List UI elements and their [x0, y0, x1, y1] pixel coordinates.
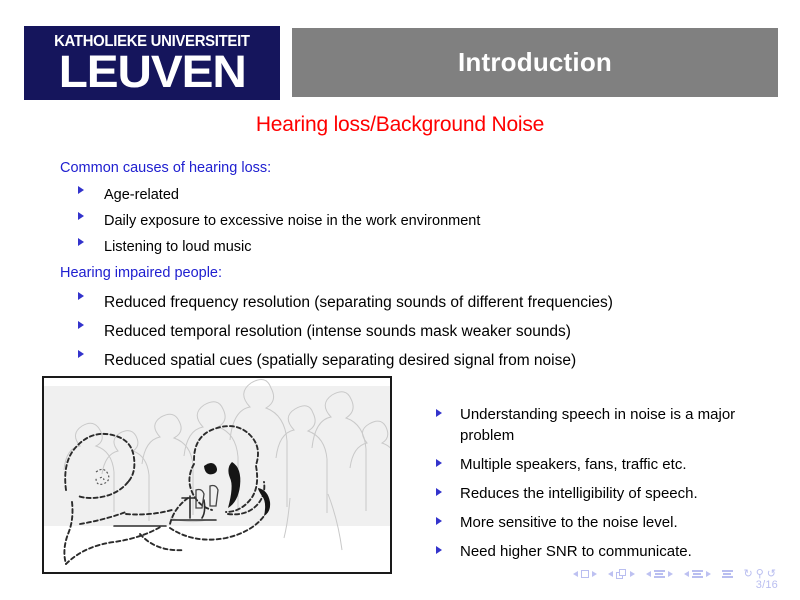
nav-group-presentation: [722, 570, 733, 578]
slide-header: KATHOLIEKE UNIVERSITEIT LEUVEN Introduct…: [0, 0, 800, 110]
bullet-triangle-icon: [78, 350, 84, 358]
previous-subsection-icon[interactable]: [646, 571, 651, 577]
bullet-triangle-icon: [78, 212, 84, 220]
list-item: Reduced frequency resolution (separating…: [78, 288, 613, 317]
list-item: Age-related: [78, 182, 480, 208]
back-icon[interactable]: ↻: [744, 569, 753, 580]
bullet-triangle-icon: [436, 488, 442, 496]
list-item-label: Listening to loud music: [104, 239, 252, 255]
slide-icon[interactable]: [581, 570, 589, 578]
ku-leuven-logo: KATHOLIEKE UNIVERSITEIT LEUVEN: [24, 26, 280, 100]
bullet-triangle-icon: [78, 321, 84, 329]
list-item: Multiple speakers, fans, traffic etc.: [436, 454, 756, 475]
bullet-list-speech-in-noise: Understanding speech in noise is a major…: [436, 404, 756, 570]
section-heading-common-causes: Common causes of hearing loss:: [60, 160, 271, 176]
frame-icon[interactable]: [616, 569, 627, 579]
section-title-text: Introduction: [458, 47, 612, 78]
nav-group-section: [684, 570, 711, 578]
list-item-label: Multiple speakers, fans, traffic etc.: [460, 456, 687, 473]
page-number: 3/16: [756, 579, 778, 591]
list-item: Reduced temporal resolution (intense sou…: [78, 317, 613, 346]
previous-frame-icon[interactable]: [608, 571, 613, 577]
previous-slide-icon[interactable]: [573, 571, 578, 577]
bullet-triangle-icon: [78, 186, 84, 194]
next-subsection-icon[interactable]: [668, 571, 673, 577]
list-item: Listening to loud music: [78, 234, 480, 260]
list-item: Daily exposure to excessive noise in the…: [78, 208, 480, 234]
list-item: Understanding speech in noise is a major…: [436, 404, 756, 446]
bullet-triangle-icon: [78, 238, 84, 246]
next-slide-icon[interactable]: [592, 571, 597, 577]
forward-icon[interactable]: ↺: [767, 569, 776, 580]
next-frame-icon[interactable]: [630, 571, 635, 577]
section-title-bar: Introduction: [292, 28, 778, 97]
subsection-icon[interactable]: [654, 570, 665, 578]
list-item-label: Need higher SNR to communicate.: [460, 543, 692, 560]
previous-section-icon[interactable]: [684, 571, 689, 577]
section-icon[interactable]: [692, 570, 703, 578]
nav-group-frame: [608, 569, 635, 579]
nav-group-subsection: [646, 570, 673, 578]
list-item-label: More sensitive to the noise level.: [460, 514, 678, 531]
list-item-label: Reduces the intelligibility of speech.: [460, 485, 698, 502]
bullet-list-common-causes: Age-related Daily exposure to excessive …: [78, 182, 480, 260]
list-item: Reduced spatial cues (spatially separati…: [78, 346, 613, 375]
list-item-label: Daily exposure to excessive noise in the…: [104, 213, 480, 229]
nav-group-slide: [573, 570, 597, 578]
beamer-navigation-bar[interactable]: ↻ ⚲ ↺: [0, 566, 800, 582]
list-item-label: Understanding speech in noise is a major…: [460, 406, 735, 444]
list-item-label: Reduced temporal resolution (intense sou…: [104, 323, 571, 340]
list-item: Reduces the intelligibility of speech.: [436, 483, 756, 504]
list-item-label: Reduced spatial cues (spatially separati…: [104, 352, 576, 369]
bullet-list-hearing-impaired: Reduced frequency resolution (separating…: [78, 288, 613, 375]
bullet-triangle-icon: [436, 546, 442, 554]
presentation-icon[interactable]: [722, 570, 733, 578]
logo-leuven-text: LEUVEN: [58, 51, 245, 92]
bullet-triangle-icon: [436, 517, 442, 525]
list-item: Need higher SNR to communicate.: [436, 541, 756, 562]
slide-title: Hearing loss/Background Noise: [0, 113, 800, 137]
nav-group-history: ↻ ⚲ ↺: [744, 569, 777, 580]
bullet-triangle-icon: [436, 409, 442, 417]
conversation-in-noise-figure: [42, 376, 392, 574]
list-item: More sensitive to the noise level.: [436, 512, 756, 533]
search-icon[interactable]: ⚲: [756, 569, 764, 580]
list-item-label: Reduced frequency resolution (separating…: [104, 294, 613, 311]
list-item-label: Age-related: [104, 187, 179, 203]
next-section-icon[interactable]: [706, 571, 711, 577]
section-heading-hearing-impaired: Hearing impaired people:: [60, 265, 222, 281]
bullet-triangle-icon: [78, 292, 84, 300]
figure-illustration: [44, 378, 390, 572]
bullet-triangle-icon: [436, 459, 442, 467]
